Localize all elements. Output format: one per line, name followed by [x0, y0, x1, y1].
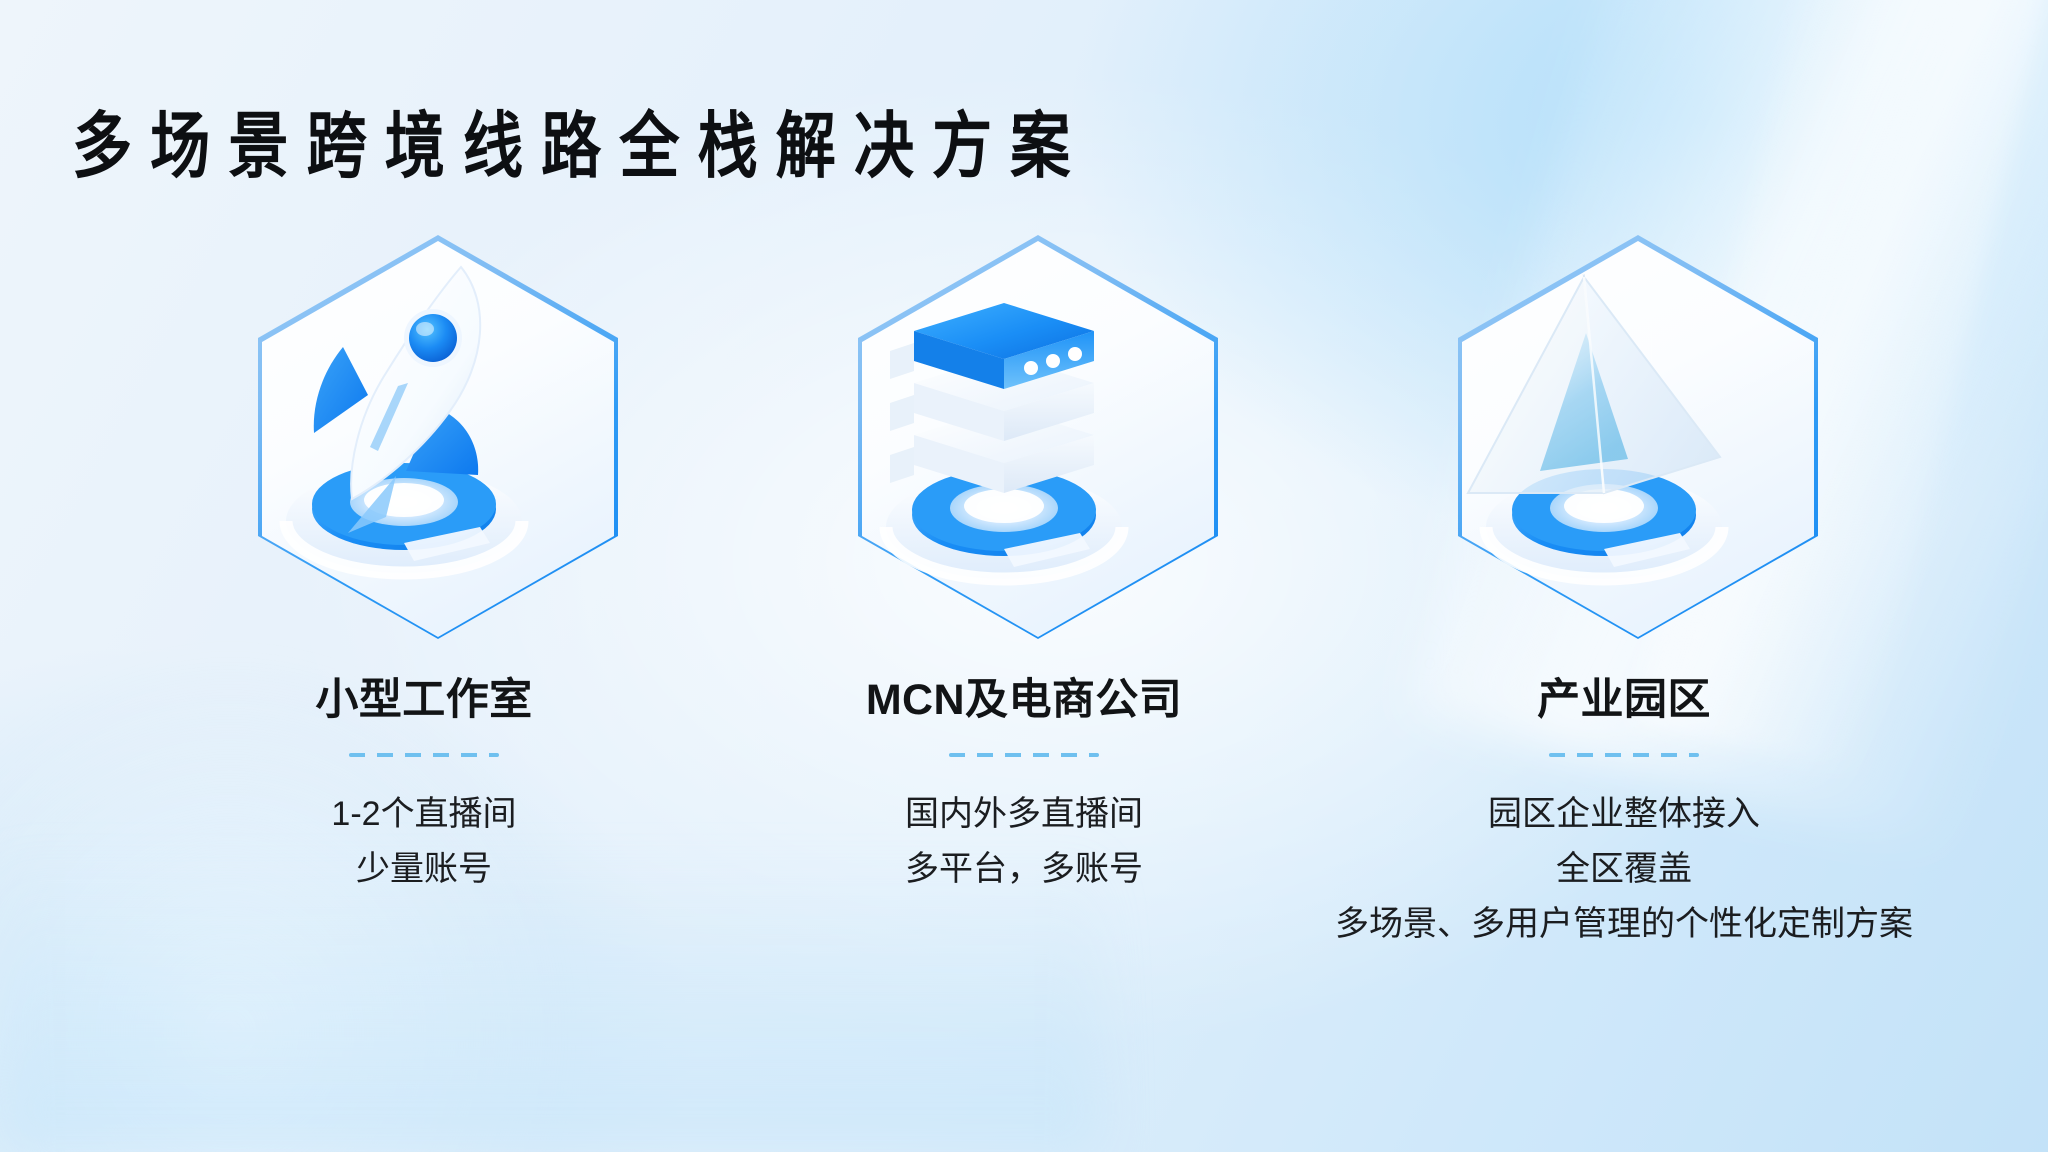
scenario-card-industrial-park[interactable]: 产业园区 园区企业整体接入 全区覆盖 多场景、多用户管理的个性化定制方案	[1324, 215, 1924, 952]
card-divider	[1549, 753, 1699, 757]
card-body-line: 1-2个直播间	[331, 787, 516, 842]
scenario-card-small-studio[interactable]: 小型工作室 1-2个直播间 少量账号	[124, 215, 724, 897]
slide-canvas: 多场景跨境线路全栈解决方案	[0, 0, 2048, 1152]
card-body: 国内外多直播间 多平台，多账号	[905, 787, 1143, 897]
card-body-line: 少量账号	[331, 842, 516, 897]
card-body-line: 多场景、多用户管理的个性化定制方案	[1335, 897, 1913, 952]
card-divider	[349, 753, 499, 757]
card-body: 1-2个直播间 少量账号	[331, 787, 516, 897]
scenario-card-mcn-ecommerce[interactable]: MCN及电商公司 国内外多直播间 多平台，多账号	[724, 215, 1324, 897]
pyramid-hexagon-icon	[1424, 215, 1824, 655]
card-body-line: 全区覆盖	[1335, 842, 1913, 897]
rocket-illustration	[228, 221, 580, 617]
server-stack-illustration	[828, 221, 1180, 617]
card-title: MCN及电商公司	[866, 665, 1182, 727]
card-body-line: 国内外多直播间	[905, 787, 1143, 842]
card-body-line: 多平台，多账号	[905, 842, 1143, 897]
card-body: 园区企业整体接入 全区覆盖 多场景、多用户管理的个性化定制方案	[1335, 787, 1913, 952]
card-title: 产业园区	[1537, 665, 1711, 727]
card-divider	[949, 753, 1099, 757]
rocket-hexagon-icon	[224, 215, 624, 655]
card-body-line: 园区企业整体接入	[1335, 787, 1913, 842]
scenario-card-row: 小型工作室 1-2个直播间 少量账号	[0, 215, 2048, 952]
card-title: 小型工作室	[315, 665, 532, 727]
page-title: 多场景跨境线路全栈解决方案	[72, 112, 1088, 184]
pyramid-illustration	[1428, 221, 1780, 617]
server-stack-hexagon-icon	[824, 215, 1224, 655]
